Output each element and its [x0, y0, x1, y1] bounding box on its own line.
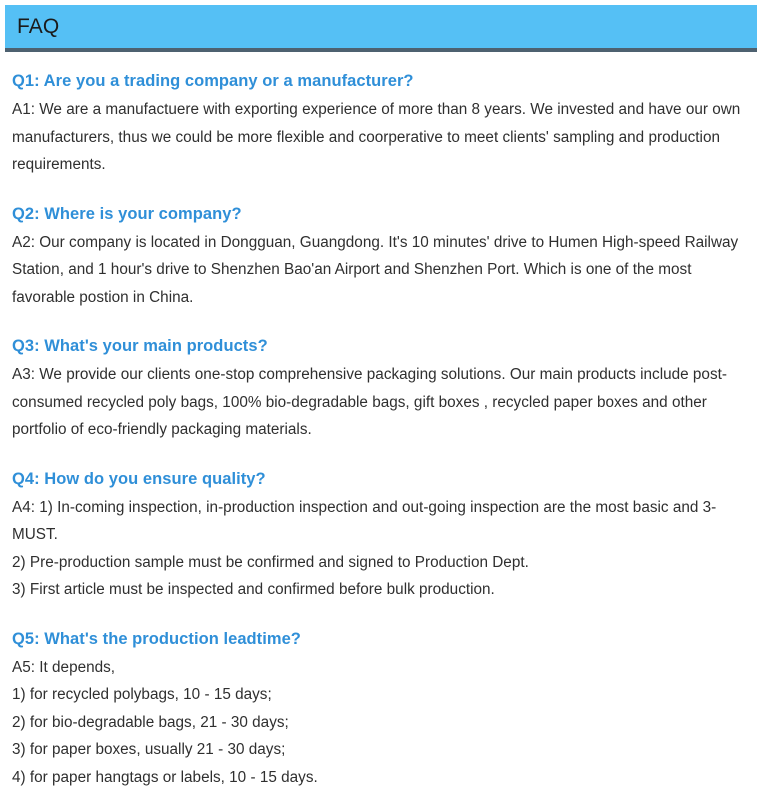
faq-question: Q2: Where is your company? [12, 201, 754, 227]
faq-answer-line: 3) for paper boxes, usually 21 - 30 days… [12, 736, 754, 764]
faq-answer: A3: We provide our clients one-stop comp… [12, 361, 754, 444]
faq-answer-line: 2) Pre-production sample must be confirm… [12, 549, 754, 577]
faq-answer-line: 1) for recycled polybags, 10 - 15 days; [12, 681, 754, 709]
faq-question: Q3: What's your main products? [12, 333, 754, 359]
faq-item: Q1: Are you a trading company or a manuf… [12, 68, 754, 179]
faq-item: Q3: What's your main products?A3: We pro… [12, 333, 754, 444]
faq-banner-bar: FAQ [5, 5, 757, 52]
faq-answer: A1: We are a manufactuere with exporting… [12, 96, 754, 179]
faq-answer-line: 2) for bio-degradable bags, 21 - 30 days… [12, 709, 754, 737]
faq-question: Q5: What's the production leadtime? [12, 626, 754, 652]
faq-question: Q1: Are you a trading company or a manuf… [12, 68, 754, 94]
faq-page: FAQ Q1: Are you a trading company or a m… [0, 0, 765, 748]
faq-item: Q2: Where is your company?A2: Our compan… [12, 201, 754, 312]
page-title: FAQ [17, 16, 59, 37]
faq-item: Q4: How do you ensure quality?A4: 1) In-… [12, 466, 754, 604]
faq-question: Q4: How do you ensure quality? [12, 466, 754, 492]
faq-answer: A2: Our company is located in Dongguan, … [12, 229, 754, 312]
faq-banner: FAQ [5, 5, 757, 52]
faq-item: Q5: What's the production leadtime?A5: I… [12, 626, 754, 791]
faq-answer: A5: It depends, [12, 654, 754, 682]
faq-answer-line: 4) for paper hangtags or labels, 10 - 15… [12, 764, 754, 791]
faq-answer: A4: 1) In-coming inspection, in-producti… [12, 494, 754, 549]
faq-list: Q1: Are you a trading company or a manuf… [12, 68, 754, 791]
faq-answer-line: 3) First article must be inspected and c… [12, 576, 754, 604]
